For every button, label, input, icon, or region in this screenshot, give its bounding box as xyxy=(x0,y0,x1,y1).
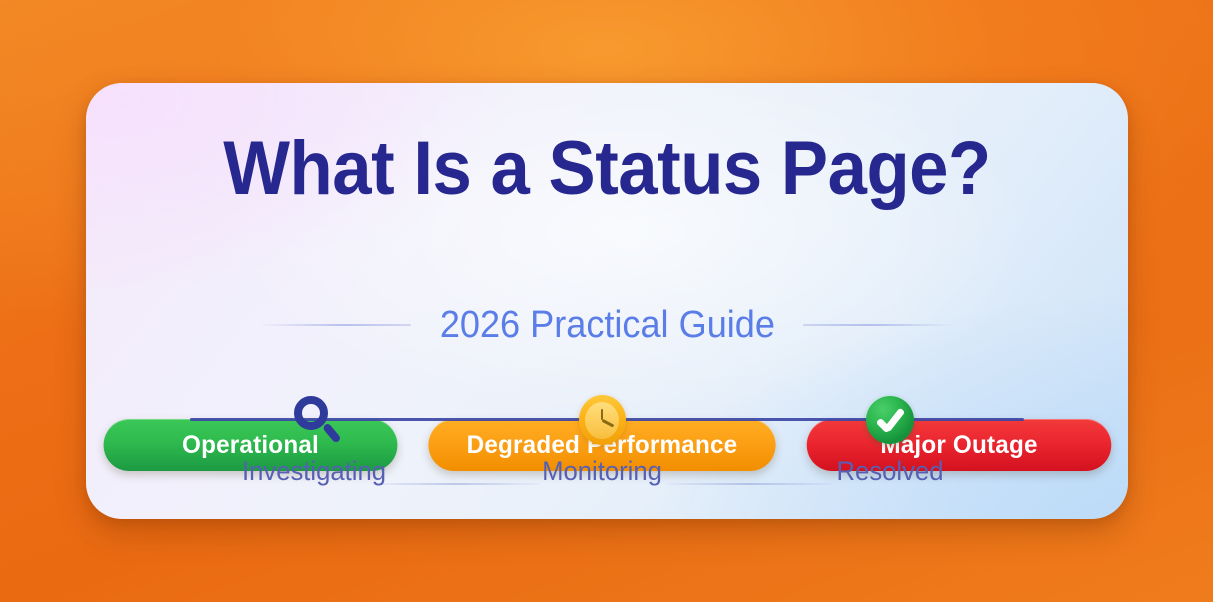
status-page-card: What Is a Status Page? 2026 Practical Gu… xyxy=(86,83,1128,519)
subtitle-rule-left xyxy=(259,324,411,326)
timeline-nodes: Investigating Monitoring xyxy=(190,394,1024,499)
timeline-step-label-resolved: Resolved xyxy=(809,456,971,487)
page-subtitle: 2026 Practical Guide xyxy=(439,306,774,344)
subtitle-rule-right xyxy=(803,324,955,326)
clock-icon xyxy=(576,394,628,446)
timeline-step-label-investigating: Investigating xyxy=(233,456,395,487)
check-circle-icon xyxy=(864,394,916,446)
incident-timeline: Investigating Monitoring xyxy=(86,394,1128,499)
magnifier-icon xyxy=(288,394,340,446)
poster-canvas: What Is a Status Page? 2026 Practical Gu… xyxy=(0,0,1213,602)
timeline-step-resolved[interactable]: Resolved xyxy=(805,394,975,487)
timeline-step-investigating[interactable]: Investigating xyxy=(229,394,399,487)
timeline-step-label-monitoring: Monitoring xyxy=(521,456,683,487)
subtitle-row: 2026 Practical Guide xyxy=(86,306,1128,344)
page-title: What Is a Status Page? xyxy=(122,131,1091,207)
timeline-step-monitoring[interactable]: Monitoring xyxy=(517,394,687,487)
